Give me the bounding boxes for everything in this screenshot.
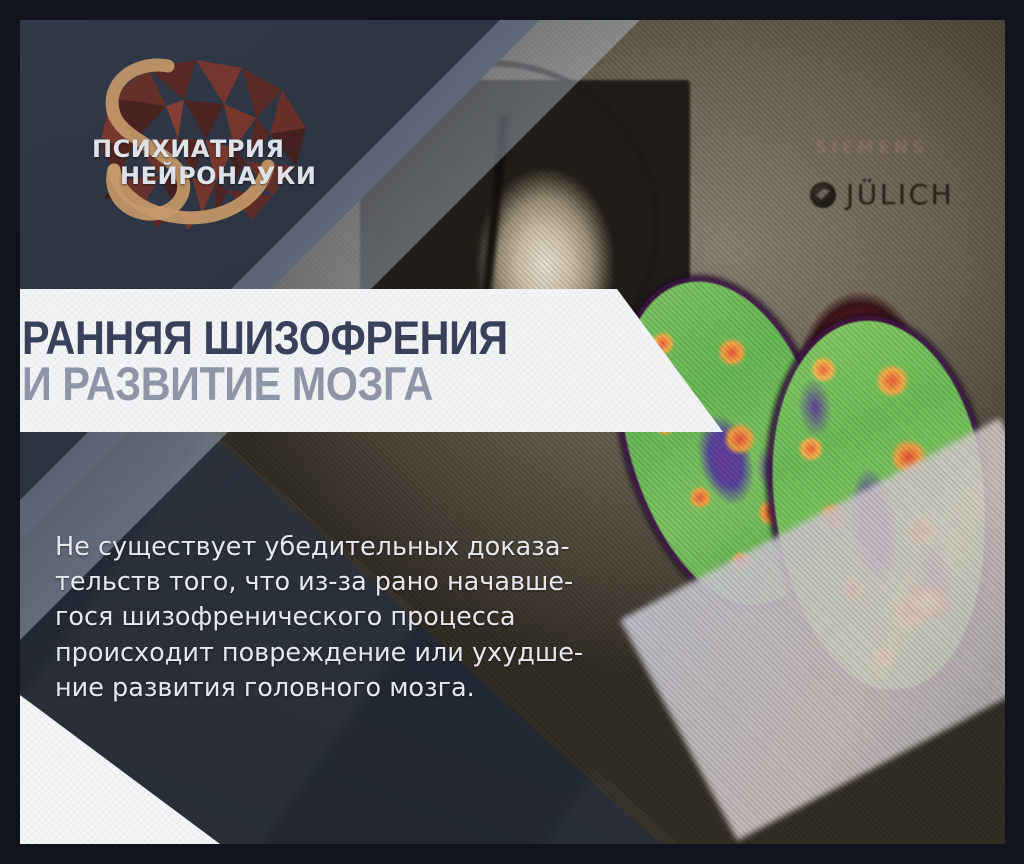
title-banner: РАННЯЯ ШИЗОФРЕНИЯ И РАЗВИТИЕ МОЗГА <box>20 289 725 432</box>
page-title-line1: РАННЯЯ ШИЗОФРЕНИЯ <box>22 315 508 361</box>
brand-logo-text: ПСИХИАТРИЯ НЕЙРОНАУКИ <box>56 136 336 190</box>
brand-logo-line2: НЕЙРОНАУКИ <box>56 163 336 190</box>
julich-brand-text: JÜLICH <box>846 178 954 211</box>
julich-brand: JÜLICH <box>810 178 954 211</box>
body-copy: Не существует убедительных доказа- тельс… <box>55 530 585 706</box>
julich-logo-mark <box>810 182 836 208</box>
brand-logo-line1: ПСИХИАТРИЯ <box>56 136 336 163</box>
siemens-brand-text: SIEMENS <box>815 138 928 158</box>
page-title-line2: И РАЗВИТИЕ МОЗГА <box>22 361 508 407</box>
poster-canvas: SIEMENS JÜLICH <box>20 20 1005 844</box>
body-copy-text: Не существует убедительных доказа- тельс… <box>55 530 585 706</box>
brand-logo[interactable]: ПСИХИАТРИЯ НЕЙРОНАУКИ <box>56 38 336 233</box>
poster-root: SIEMENS JÜLICH <box>0 0 1024 864</box>
page-title: РАННЯЯ ШИЗОФРЕНИЯ И РАЗВИТИЕ МОЗГА <box>22 315 508 407</box>
